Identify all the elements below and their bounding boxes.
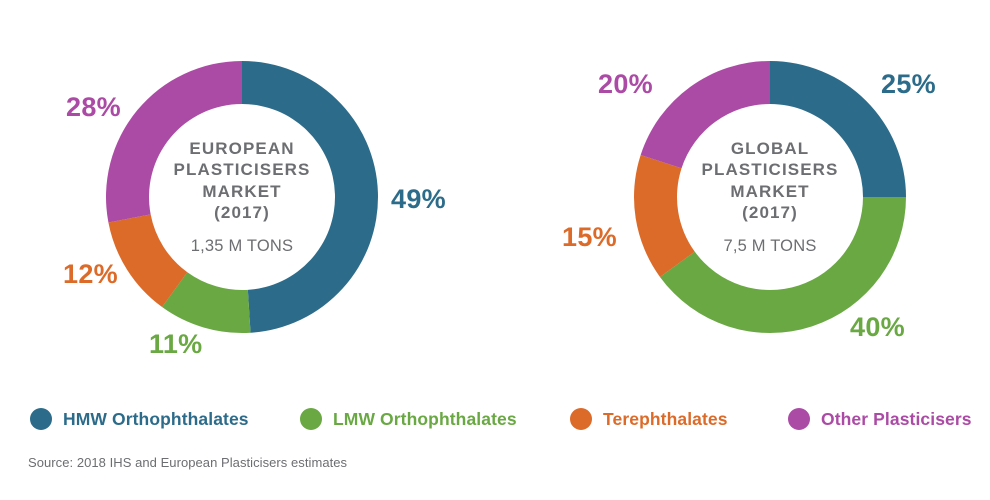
legend-dot-other-icon xyxy=(788,408,810,430)
pct-label-european-other: 28% xyxy=(66,94,121,121)
infographic-canvas: EUROPEAN PLASTICISERS MARKET (2017) 1,35… xyxy=(0,0,990,500)
pct-label-european-terephthalates: 12% xyxy=(63,261,118,288)
legend-label-other: Other Plasticisers xyxy=(821,409,972,430)
pct-label-global-other: 20% xyxy=(598,71,653,98)
legend-item-other[interactable]: Other Plasticisers xyxy=(788,404,972,434)
legend-dot-lmw-icon xyxy=(300,408,322,430)
legend-label-terephthalates: Terephthalates xyxy=(603,409,728,430)
source-note: Source: 2018 IHS and European Plasticise… xyxy=(28,455,347,470)
donut-slice xyxy=(242,61,378,333)
legend-item-lmw[interactable]: LMW Orthophthalates xyxy=(300,404,517,434)
pct-label-global-terephthalates: 15% xyxy=(562,224,617,251)
donut-slices-european xyxy=(106,61,378,333)
donut-svg-european xyxy=(92,47,392,347)
donut-chart-european: EUROPEAN PLASTICISERS MARKET (2017) 1,35… xyxy=(92,47,392,347)
donut-slice xyxy=(641,61,770,168)
pct-label-global-hmw: 25% xyxy=(881,71,936,98)
donut-slice xyxy=(106,61,242,222)
legend-dot-hmw-icon xyxy=(30,408,52,430)
legend-label-hmw: HMW Orthophthalates xyxy=(63,409,249,430)
pct-label-european-hmw: 49% xyxy=(391,186,446,213)
chart-legend: HMW Orthophthalates LMW Orthophthalates … xyxy=(28,404,968,434)
pct-label-european-lmw: 11% xyxy=(149,331,202,358)
donut-slices-global xyxy=(634,61,906,333)
legend-label-lmw: LMW Orthophthalates xyxy=(333,409,517,430)
donut-chart-global: GLOBAL PLASTICISERS MARKET (2017) 7,5 M … xyxy=(620,47,920,347)
legend-item-terephthalates[interactable]: Terephthalates xyxy=(570,404,728,434)
legend-item-hmw[interactable]: HMW Orthophthalates xyxy=(30,404,249,434)
legend-dot-terephthalates-icon xyxy=(570,408,592,430)
pct-label-global-lmw: 40% xyxy=(850,314,905,341)
donut-svg-global xyxy=(620,47,920,347)
